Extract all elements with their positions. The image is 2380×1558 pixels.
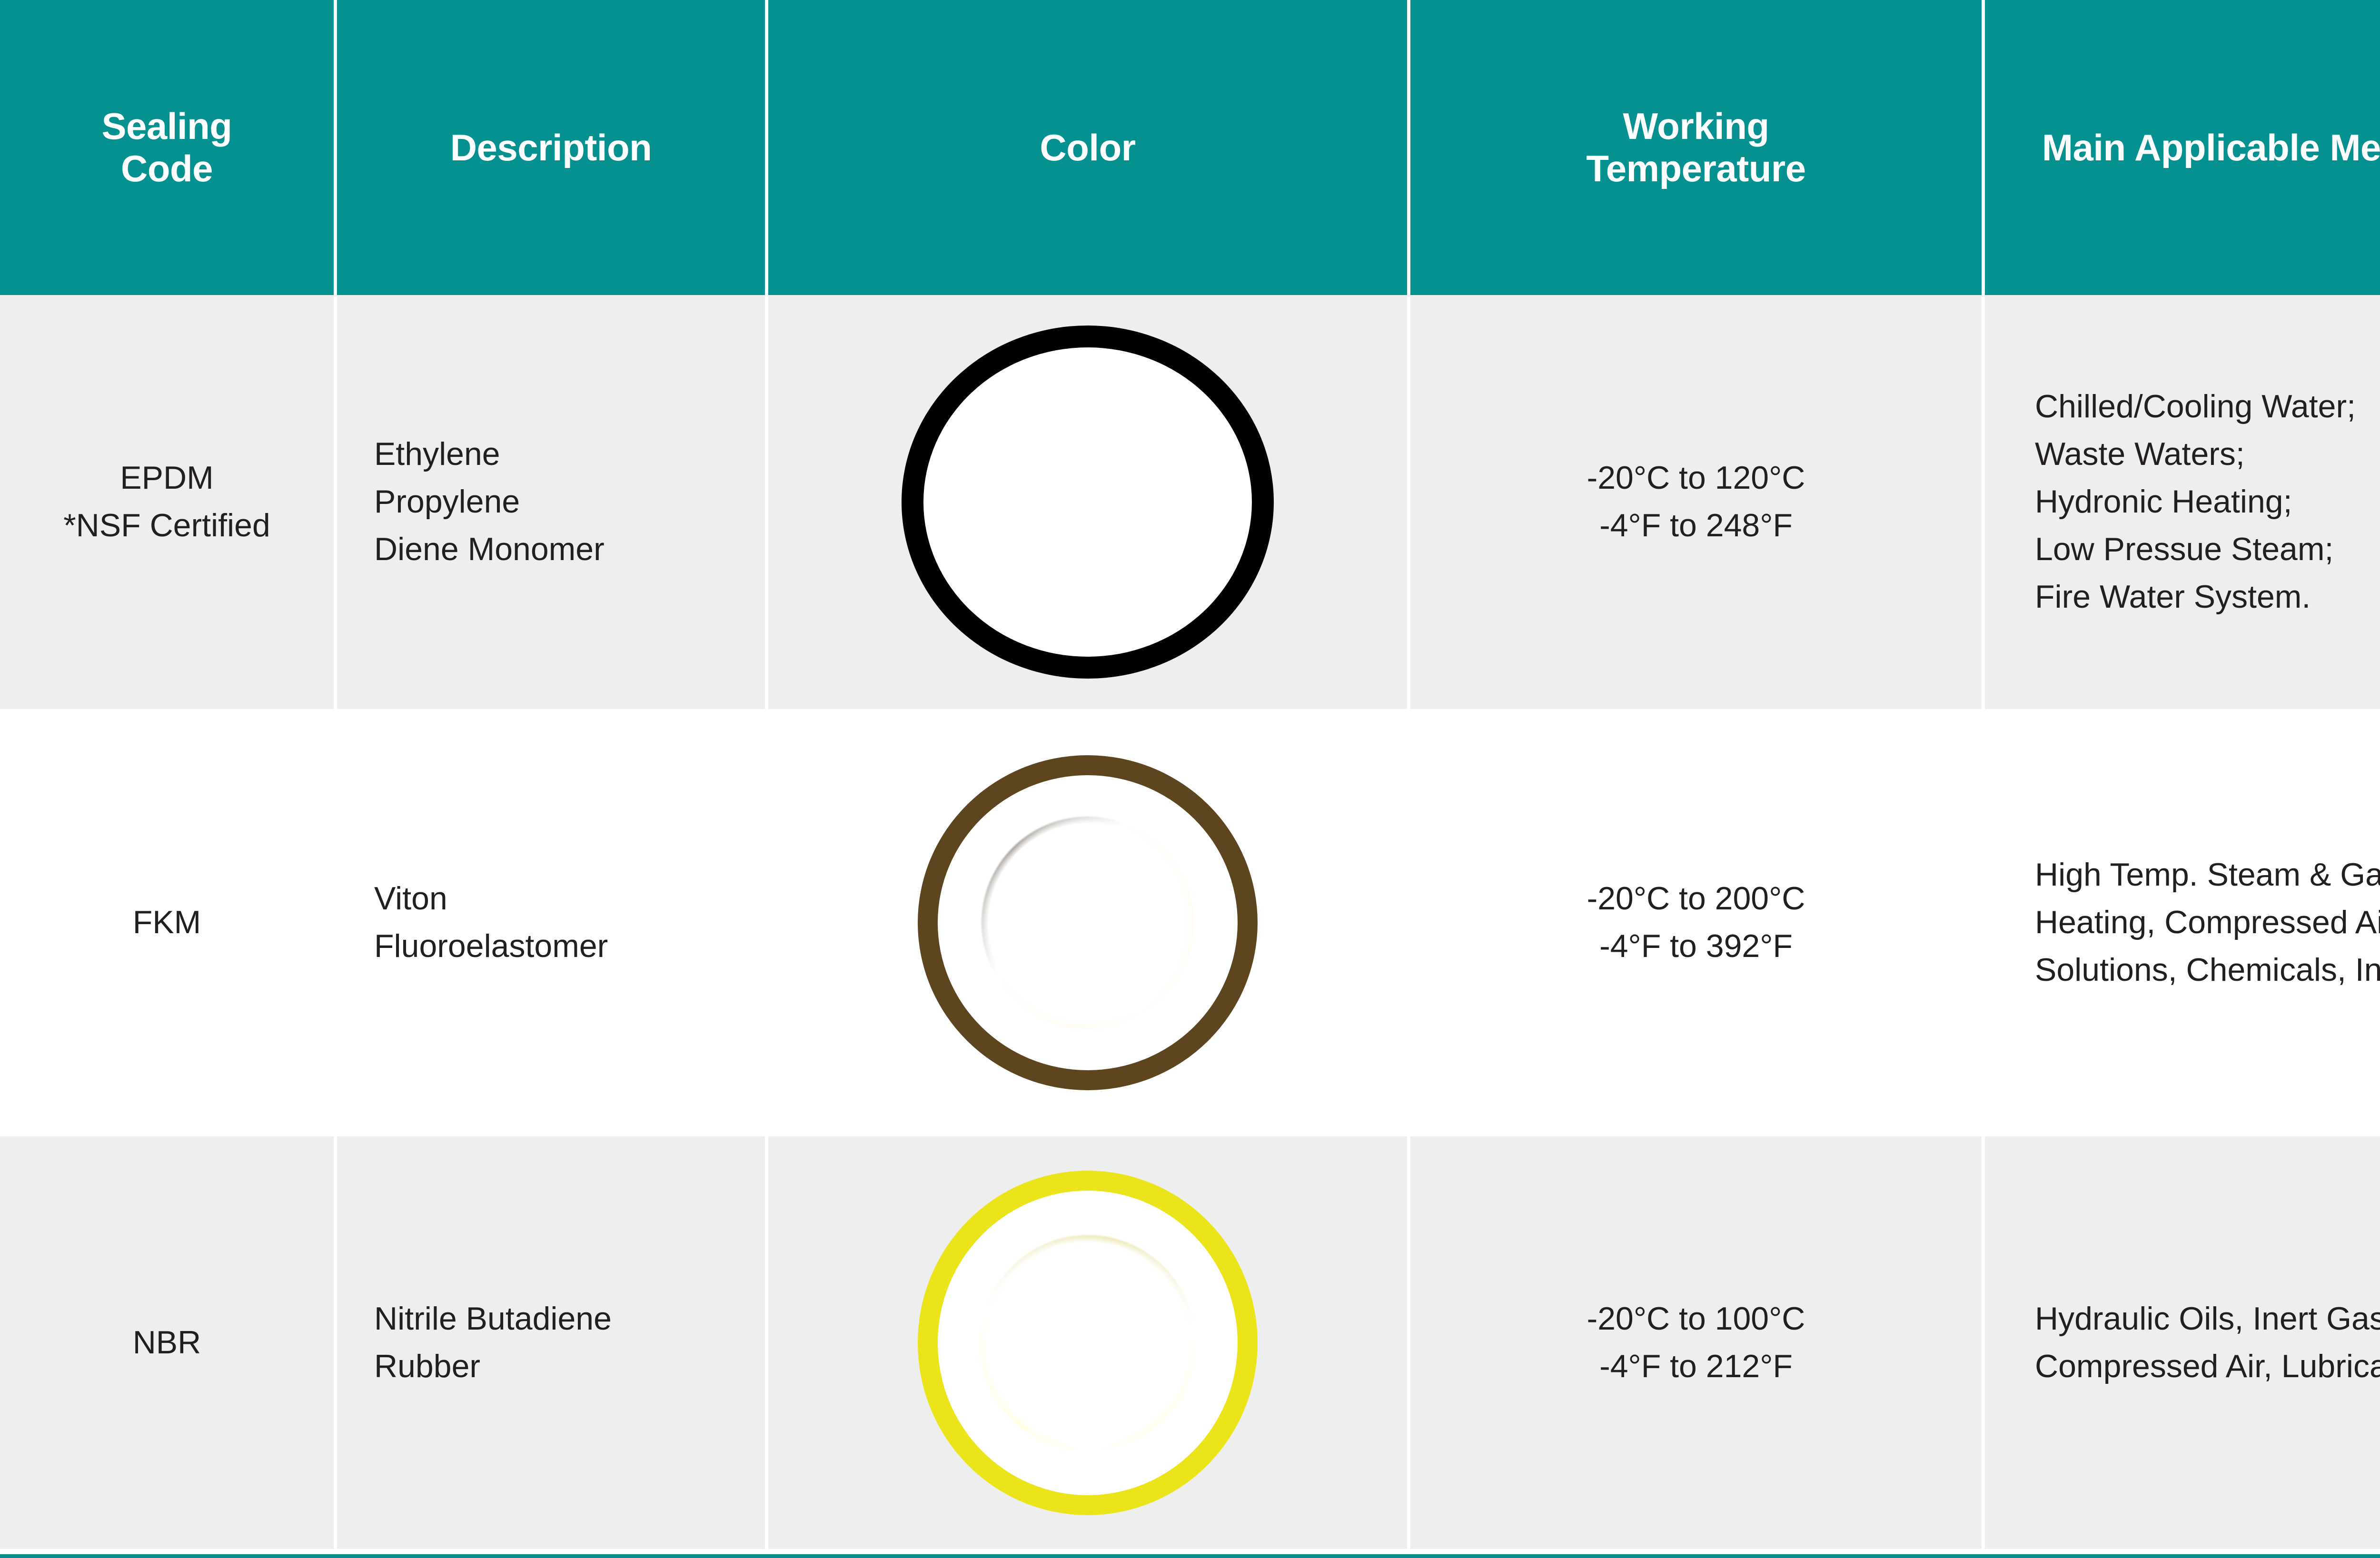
column-header-working-temperature: Working Temperature	[1410, 0, 1985, 295]
table-row: High Temp. Steam & Gas, Solar, Heating, …	[1985, 709, 2380, 1136]
table-row: -20°C to 100°C -4°F to 212°F	[1410, 1136, 1985, 1549]
cell-working-temperature: -20°C to 100°C -4°F to 212°F	[1587, 1295, 1805, 1390]
table-row: Hydraulic Oils, Inert Gases, Compressed …	[1985, 1136, 2380, 1549]
table-row: Ethylene Propylene Diene Monomer	[337, 295, 768, 709]
cell-working-temperature: -20°C to 200°C -4°F to 392°F	[1587, 875, 1805, 970]
sealing-material-table: Sealing Code Description Color Working T…	[0, 0, 2380, 1549]
table-bottom-rule	[0, 1554, 2380, 1558]
table-row	[768, 1136, 1410, 1549]
cell-main-applicable-medium: High Temp. Steam & Gas, Solar, Heating, …	[2035, 851, 2380, 994]
cell-description: Nitrile Butadiene Rubber	[374, 1295, 612, 1390]
cell-sealing-code: EPDM *NSF Certified	[63, 454, 270, 550]
cell-sealing-code: NBR	[133, 1319, 201, 1367]
table-row: Viton Fluoroelastomer	[337, 709, 768, 1136]
column-header-color-label: Color	[1040, 127, 1135, 169]
cell-main-applicable-medium: Hydraulic Oils, Inert Gases, Compressed …	[2035, 1295, 2380, 1390]
cell-sealing-code: FKM	[133, 899, 201, 947]
cell-description: Ethylene Propylene Diene Monomer	[374, 431, 605, 573]
column-header-main-applicable-medium: Main Applicable Medium	[1985, 0, 2380, 295]
column-header-sealing-code: Sealing Code	[0, 0, 337, 295]
table-row: NBR	[0, 1136, 337, 1549]
cell-color-swatch	[768, 295, 1407, 709]
cell-main-applicable-medium: Chilled/Cooling Water; Waste Waters; Hyd…	[2035, 383, 2356, 621]
table-row: EPDM *NSF Certified	[0, 295, 337, 709]
o-ring-icon-yellow	[918, 1171, 1258, 1515]
cell-color-swatch	[768, 709, 1407, 1136]
o-ring-icon-brown	[918, 755, 1258, 1090]
column-header-sealing-code-label: Sealing Code	[102, 105, 232, 190]
column-header-working-temperature-label: Working Temperature	[1586, 105, 1805, 190]
column-header-main-applicable-medium-label: Main Applicable Medium	[2042, 127, 2380, 169]
table-row: -20°C to 120°C -4°F to 248°F	[1410, 295, 1985, 709]
column-header-color: Color	[768, 0, 1410, 295]
o-ring-icon-black	[902, 325, 1274, 679]
table-row: -20°C to 200°C -4°F to 392°F	[1410, 709, 1985, 1136]
cell-color-swatch	[768, 1136, 1407, 1549]
table-row: Chilled/Cooling Water; Waste Waters; Hyd…	[1985, 295, 2380, 709]
sealing-material-table-page: Sealing Code Description Color Working T…	[0, 0, 2380, 1558]
cell-working-temperature: -20°C to 120°C -4°F to 248°F	[1587, 454, 1805, 550]
column-header-description-label: Description	[450, 127, 652, 169]
table-row: FKM	[0, 709, 337, 1136]
table-row: Nitrile Butadiene Rubber	[337, 1136, 768, 1549]
table-row	[768, 709, 1410, 1136]
cell-description: Viton Fluoroelastomer	[374, 875, 608, 970]
table-row	[768, 295, 1410, 709]
column-header-description: Description	[337, 0, 768, 295]
